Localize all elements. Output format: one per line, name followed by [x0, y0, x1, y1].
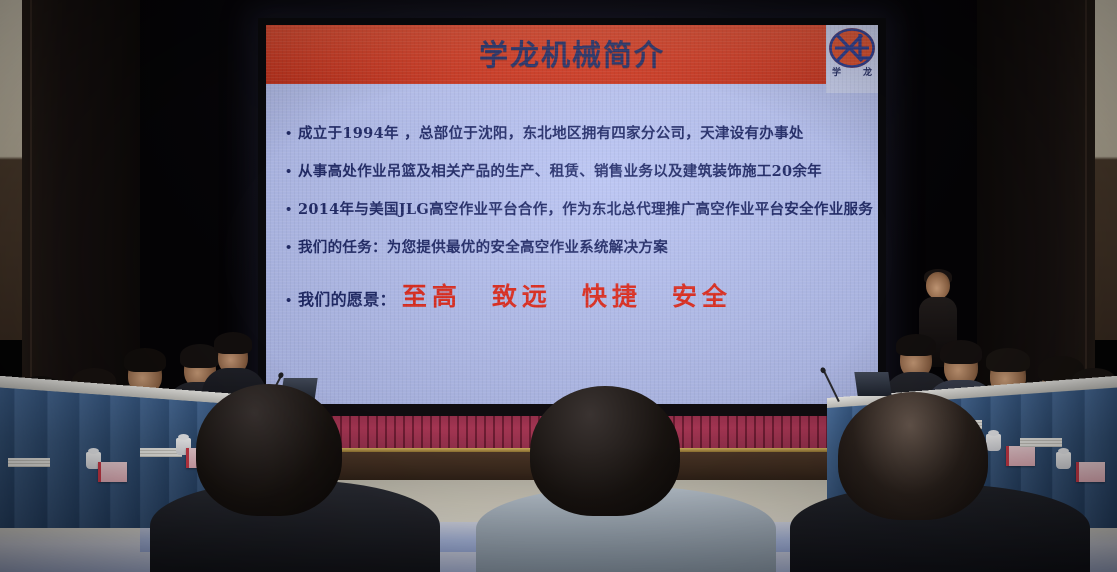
bullet-marker-icon: •	[286, 161, 298, 183]
logo-char-right: 龙	[863, 68, 872, 79]
slide-bullet-4: • 我们的任务：为您提供最优的安全高空作业系统解决方案	[286, 237, 864, 259]
slide-vision-words: 至高 致远 快捷 安全	[402, 277, 732, 313]
speaker-head	[926, 272, 950, 299]
name-tent-card	[98, 462, 127, 482]
slide-vision-line: • 我们的愿景： 至高 致远 快捷 安全	[286, 277, 864, 313]
slide-bullet-2-text: 从事高处作业吊篮及相关产品的生产、租赁、销售业务以及建筑装饰施工20余年	[298, 161, 822, 183]
booklet-stack	[8, 458, 50, 467]
slide-bullet-list: • 成立于1994年 ，总部位于沈阳，东北地区拥有四家分公司，天津设有办事处 •…	[266, 101, 878, 329]
person-hair	[214, 332, 252, 354]
slide-bullet-1-text: 成立于1994年 ，总部位于沈阳，东北地区拥有四家分公司，天津设有办事处	[298, 123, 804, 145]
foreground-audience-head-right	[838, 392, 988, 520]
bullet-marker-icon: •	[286, 237, 298, 259]
conference-room-photo: 学龙机械简介 学 龙 •	[0, 0, 1117, 572]
booklet-stack	[1020, 438, 1062, 447]
slide-bullet-1: • 成立于1994年 ，总部位于沈阳，东北地区拥有四家分公司，天津设有办事处	[286, 123, 864, 145]
logo-subtext: 学 龙	[829, 68, 875, 79]
slide-title: 学龙机械简介	[266, 31, 878, 79]
name-tent-card	[1006, 446, 1035, 466]
slide-bullet-4-text: 我们的任务：为您提供最优的安全高空作业系统解决方案	[298, 237, 668, 259]
tea-cup	[986, 434, 1001, 451]
slide-title-bar: 学龙机械简介 学 龙	[266, 25, 878, 84]
person-hair	[986, 348, 1030, 372]
bullet-marker-icon: •	[286, 199, 298, 221]
slide-vision-label: 我们的愿景：	[298, 289, 396, 311]
person-hair	[124, 348, 166, 372]
laptop	[854, 372, 891, 396]
bullet-marker-icon: •	[286, 123, 298, 145]
company-logo: 学 龙	[826, 25, 878, 93]
slide-bullet-3: • 2014年与美国JLG高空作业平台合作，作为东北总代理推广高空作业平台安全作…	[286, 199, 864, 221]
logo-char-left: 学	[832, 68, 841, 79]
foreground-audience-head-left	[196, 384, 342, 516]
slide-bullet-3-text: 2014年与美国JLG高空作业平台合作，作为东北总代理推广高空作业平台安全作业服…	[298, 199, 873, 221]
tea-cup	[1056, 452, 1071, 469]
foreground-audience-head-center	[530, 386, 680, 516]
presentation-slide: 学龙机械简介 学 龙 •	[266, 25, 878, 405]
logo-oval-icon	[829, 28, 875, 68]
bullet-marker-icon: •	[286, 290, 298, 312]
slide-bullet-2: • 从事高处作业吊篮及相关产品的生产、租赁、销售业务以及建筑装饰施工20余年	[286, 161, 864, 183]
name-tent-card	[1076, 462, 1105, 482]
